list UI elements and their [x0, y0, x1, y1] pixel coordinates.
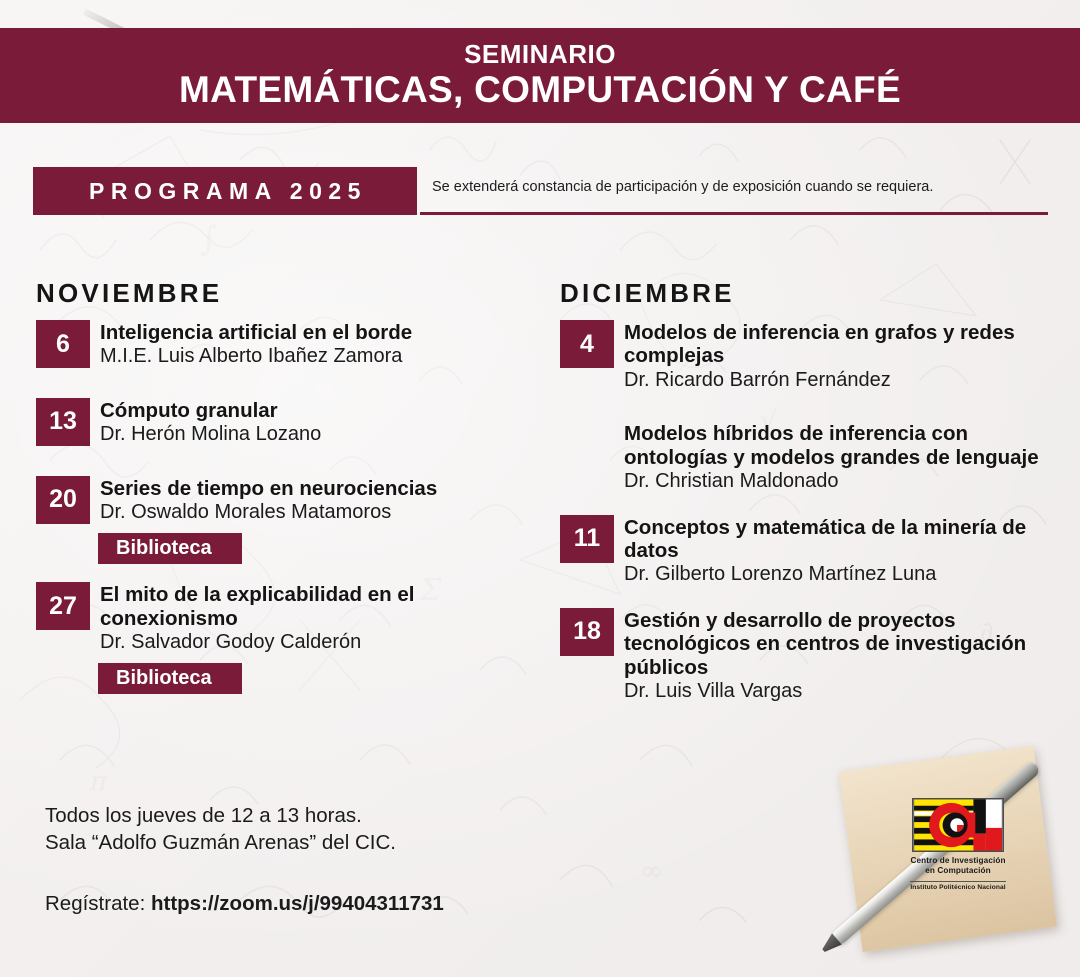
venue-badge: Biblioteca [98, 533, 242, 564]
entry-title: Cómputo granular [100, 399, 536, 422]
entry-body: Modelos híbridos de inferencia con ontol… [624, 421, 1065, 493]
notepad-illustration: Centro de Investigación en Computación I… [840, 742, 1080, 977]
entry-speaker: Dr. Herón Molina Lozano [100, 423, 536, 447]
entry-speaker: Dr. Christian Maldonado [624, 470, 1065, 494]
schedule-entry[interactable]: 27 El mito de la explicabilidad en el co… [36, 582, 536, 654]
date-badge [560, 421, 614, 469]
entry-title: Conceptos y matemática de la minería de … [624, 516, 1065, 563]
entry-title: Modelos híbridos de inferencia con ontol… [624, 422, 1065, 469]
entry-title: Inteligencia artificial en el borde [100, 321, 536, 344]
register-label: Regístrate: [45, 892, 145, 915]
footer-schedule-line2: Sala “Adolfo Guzmán Arenas” del CIC. [45, 830, 565, 857]
entry-body: Modelos de inferencia en grafos y redes … [624, 320, 1065, 392]
date-badge: 6 [36, 320, 90, 368]
entry-title: Modelos de inferencia en grafos y redes … [624, 321, 1065, 368]
header-kicker: SEMINARIO [464, 41, 616, 67]
entry-title: El mito de la explicabilidad en el conex… [100, 583, 536, 630]
spacer [560, 590, 1065, 608]
date-badge: 20 [36, 476, 90, 524]
entry-title: Gestión y desarrollo de proyectos tecnol… [624, 609, 1065, 679]
date-badge: 4 [560, 320, 614, 368]
poster-canvas: ∫ Σ √ π ∂ ∞ SEMINARIO MATEMÁTICAS, COMPU… [0, 0, 1080, 977]
date-badge: 11 [560, 515, 614, 563]
programa-row: PROGRAMA 2025 Se extenderá constancia de… [0, 167, 1080, 219]
footer-schedule-line1: Todos los jueves de 12 a 13 horas. [45, 803, 565, 830]
entry-body: Conceptos y matemática de la minería de … [624, 515, 1065, 587]
entry-body: Gestión y desarrollo de proyectos tecnol… [624, 608, 1065, 704]
spacer [36, 564, 536, 582]
cic-logo-institution: Instituto Politécnico Nacional [910, 881, 1005, 892]
entry-body: Cómputo granular Dr. Herón Molina Lozano [100, 398, 536, 447]
entry-body: Series de tiempo en neurociencias Dr. Os… [100, 476, 536, 525]
entry-speaker: Dr. Gilberto Lorenzo Martínez Luna [624, 563, 1065, 587]
cic-logo: Centro de Investigación en Computación I… [902, 798, 1014, 894]
header-band: SEMINARIO MATEMÁTICAS, COMPUTACIÓN Y CAF… [0, 28, 1080, 123]
entry-speaker: Dr. Luis Villa Vargas [624, 680, 1065, 704]
schedule-entry[interactable]: 18 Gestión y desarrollo de proyectos tec… [560, 608, 1065, 704]
venue-badge: Biblioteca [98, 663, 242, 694]
month-title-noviembre: NOVIEMBRE [36, 280, 536, 306]
spacer [36, 450, 536, 476]
schedule-entry[interactable]: 11 Conceptos y matemática de la minería … [560, 515, 1065, 587]
entry-speaker: Dr. Oswaldo Morales Matamoros [100, 501, 536, 525]
month-column-noviembre: NOVIEMBRE 6 Inteligencia artificial en e… [36, 280, 536, 694]
month-title-diciembre: DICIEMBRE [560, 280, 1065, 306]
month-column-diciembre: DICIEMBRE 4 Modelos de inferencia en gra… [560, 280, 1065, 707]
footer-schedule-info: Todos los jueves de 12 a 13 horas. Sala … [45, 803, 565, 856]
svg-text:∫: ∫ [200, 219, 218, 259]
entry-body: El mito de la explicabilidad en el conex… [100, 582, 536, 654]
schedule-entry[interactable]: 6 Inteligencia artificial en el borde M.… [36, 320, 536, 369]
cic-logo-name-line2: en Computación [902, 866, 1014, 876]
cic-logo-mark-icon [912, 798, 1004, 852]
spacer [560, 395, 1065, 421]
footer-register: Regístrate: https://zoom.us/j/9940431173… [45, 892, 444, 917]
svg-text:∞: ∞ [640, 854, 663, 887]
date-badge: 13 [36, 398, 90, 446]
programa-note: Se extenderá constancia de participación… [432, 179, 1052, 196]
date-badge: 27 [36, 582, 90, 630]
entry-speaker: Dr. Salvador Godoy Calderón [100, 631, 536, 655]
programa-divider [420, 212, 1048, 215]
svg-text:π: π [89, 767, 108, 797]
schedule-entry[interactable]: 20 Series de tiempo en neurociencias Dr.… [36, 476, 536, 525]
page-title: MATEMÁTICAS, COMPUTACIÓN Y CAFÉ [179, 71, 901, 110]
pen-tip [819, 933, 842, 956]
schedule-entry[interactable]: Modelos híbridos de inferencia con ontol… [560, 421, 1065, 493]
entry-speaker: M.I.E. Luis Alberto Ibañez Zamora [100, 345, 536, 369]
entry-speaker: Dr. Ricardo Barrón Fernández [624, 369, 1065, 393]
cic-logo-name-line1: Centro de Investigación [902, 856, 1014, 866]
entry-body: Inteligencia artificial en el borde M.I.… [100, 320, 536, 369]
spacer [36, 372, 536, 398]
spacer [560, 497, 1065, 515]
cic-logo-name: Centro de Investigación en Computación [902, 856, 1014, 876]
schedule-entry[interactable]: 4 Modelos de inferencia en grafos y rede… [560, 320, 1065, 392]
schedule-entry[interactable]: 13 Cómputo granular Dr. Herón Molina Loz… [36, 398, 536, 447]
date-badge: 18 [560, 608, 614, 656]
programa-badge: PROGRAMA 2025 [33, 167, 417, 215]
register-link[interactable]: https://zoom.us/j/99404311731 [151, 892, 444, 915]
entry-title: Series de tiempo en neurociencias [100, 477, 536, 500]
